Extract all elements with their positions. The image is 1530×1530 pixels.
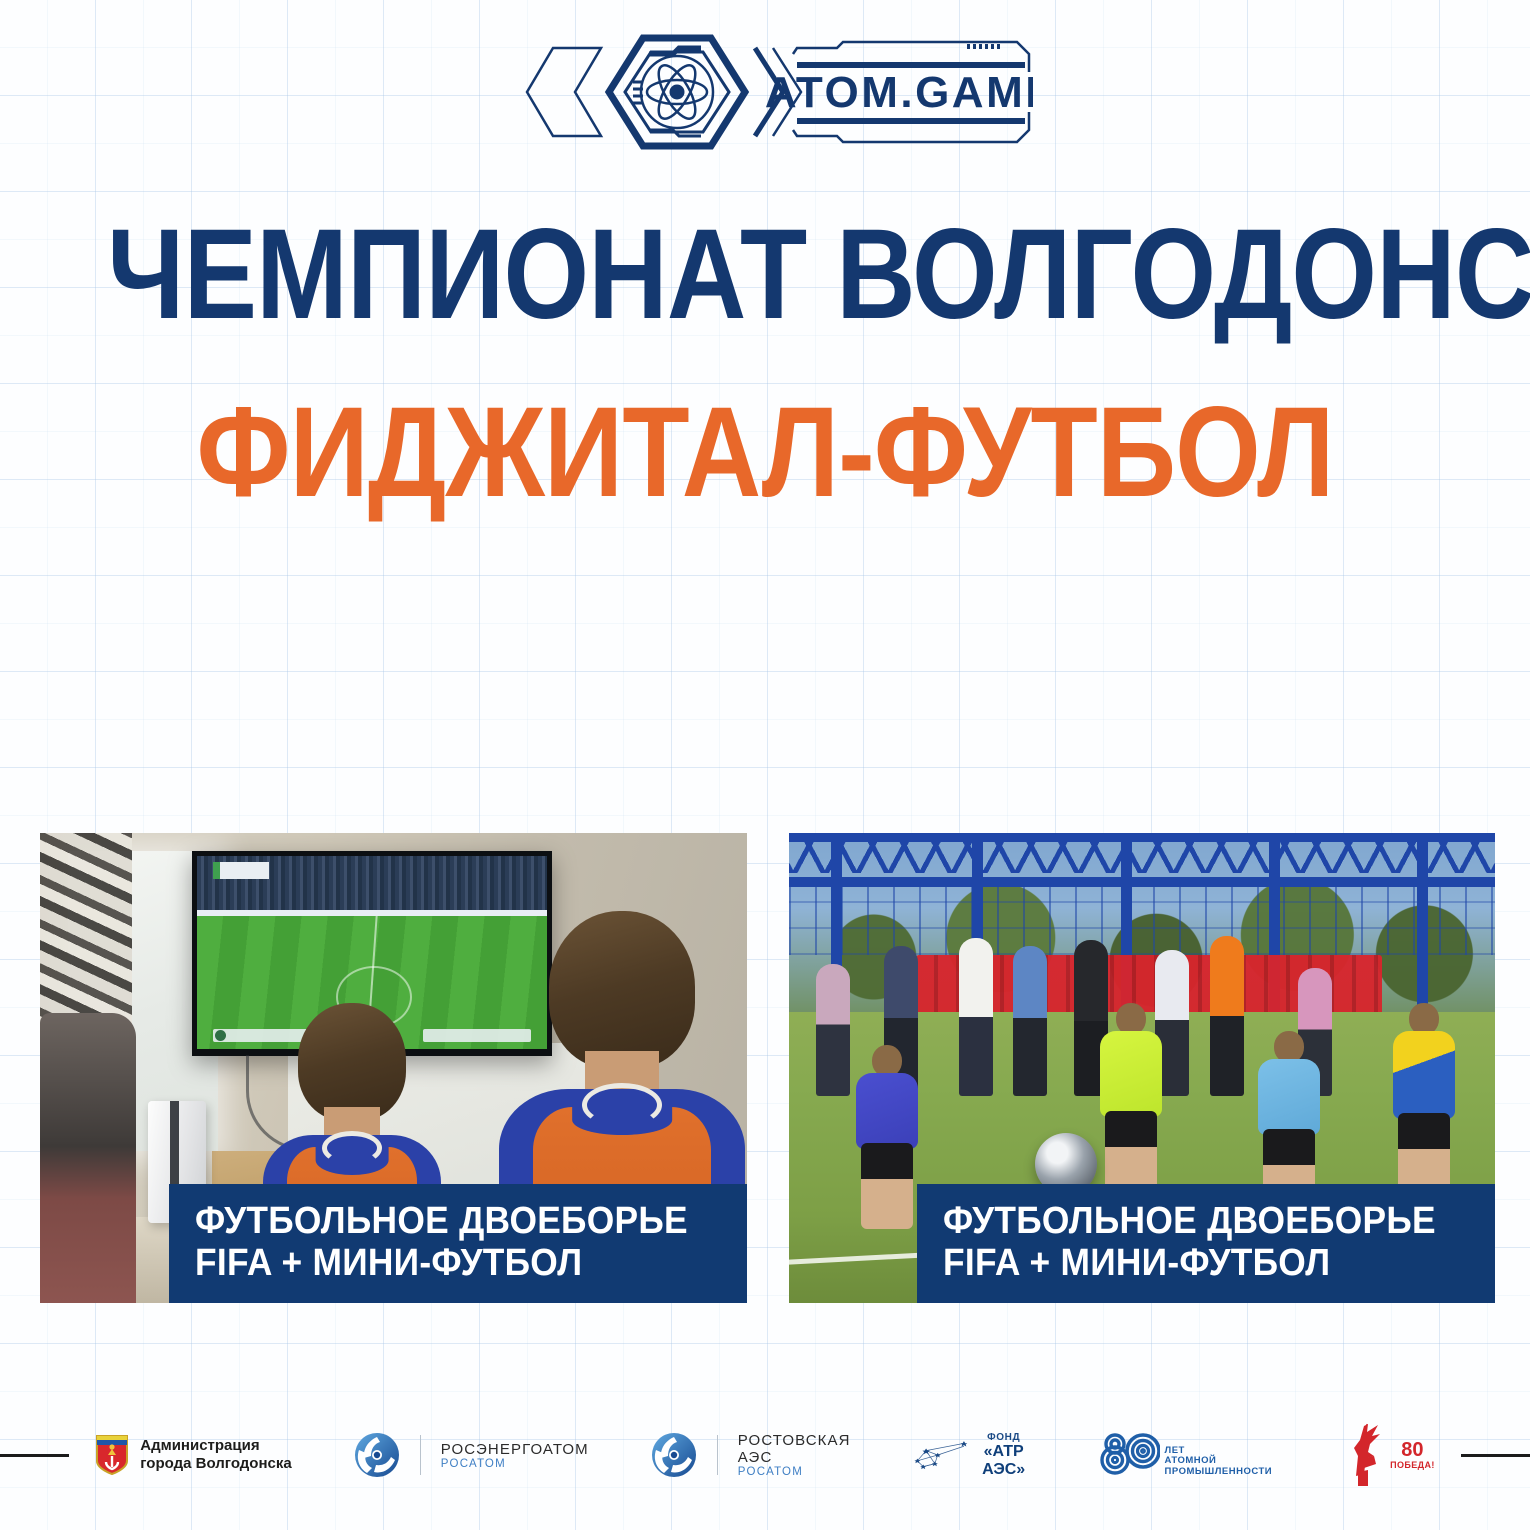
sponsor-rosenergoatom-line1: РОСЭНЕРГОАТОМ (441, 1441, 589, 1458)
caption-line-1: ФУТБОЛЬНОЕ ДВОЕБОРЬЕ (195, 1200, 688, 1243)
sponsor-victory-number: 80 (1390, 1440, 1435, 1460)
brand-logo: ATOM.GAME (0, 32, 1530, 152)
sponsor-rostov-npp-line1: РОСТОВСКАЯ (738, 1432, 851, 1449)
sponsor-atr-aes-fund: ФОНД «АТР АЭС» (913, 1432, 1036, 1479)
logo-wordmark: ATOM.GAME (765, 68, 1033, 117)
sponsor-80-years-atomic: ЛЕТ АТОМНОЙ ПРОМЫШЛЕННОСТИ (1098, 1432, 1273, 1478)
footer-rule-left (0, 1454, 69, 1457)
sponsor-victory-80: 80 ПОБЕДА! (1334, 1422, 1435, 1488)
page-title: ЧЕМПИОНАТ ВОЛГОДОНСКА ФИДЖИТАЛ-ФУТБОЛ (0, 216, 1530, 512)
caption-line-1: ФУТБОЛЬНОЕ ДВОЕБОРЬЕ (943, 1200, 1436, 1243)
caption-line-2: FIFA + МИНИ-ФУТБОЛ (943, 1242, 1436, 1285)
title-line-phygital-football: ФИДЖИТАЛ-ФУТБОЛ (107, 394, 1423, 512)
sponsor-atr-line2: «АТР АЭС» (972, 1443, 1036, 1479)
rosatom-swirl-icon (354, 1432, 400, 1478)
photo-minifootball: ФУТБОЛЬНОЕ ДВОЕБОРЬЕ FIFA + МИНИ-ФУТБОЛ (789, 833, 1496, 1303)
poster-canvas: ATOM.GAME ЧЕМПИОНАТ ВОЛГОДОНСКА ФИДЖИТАЛ… (0, 0, 1530, 1530)
sponsor-admin-line2: города Волгодонска (140, 1455, 291, 1473)
atom-game-logo-icon: ATOM.GAME (497, 32, 1033, 152)
sponsor-rostov-npp-line2: АЭС (738, 1449, 851, 1466)
photo-fifa-caption: ФУТБОЛЬНОЕ ДВОЕБОРЬЕ FIFA + МИНИ-ФУТБОЛ (169, 1184, 747, 1303)
coat-of-arms-icon (95, 1434, 129, 1476)
caption-line-2: FIFA + МИНИ-ФУТБОЛ (195, 1242, 688, 1285)
sponsor-admin-line1: Администрация (140, 1437, 291, 1455)
sponsor-victory-label: ПОБЕДА! (1390, 1460, 1435, 1470)
constellation-network-icon (913, 1433, 968, 1477)
sponsor-admin-volgodonsk: Администрация города Волгодонска (95, 1434, 291, 1476)
sponsor-atr-line1: ФОНД (972, 1432, 1036, 1443)
sponsor-rostov-npp: РОСТОВСКАЯ АЭС РОСАТОМ (651, 1432, 851, 1478)
sponsor-rosenergoatom-line2: РОСАТОМ (441, 1458, 589, 1470)
rosatom-swirl-icon (651, 1432, 697, 1478)
sponsor-rosenergoatom: РОСЭНЕРГОАТОМ РОСАТОМ (354, 1432, 589, 1478)
photo-minifootball-caption: ФУТБОЛЬНОЕ ДВОЕБОРЬЕ FIFA + МИНИ-ФУТБОЛ (917, 1184, 1495, 1303)
photo-gallery: ФУТБОЛЬНОЕ ДВОЕБОРЬЕ FIFA + МИНИ-ФУТБОЛ (40, 833, 1495, 1303)
motherland-calls-icon (1334, 1422, 1388, 1488)
sponsor-strip: Администрация города Волгодонска (0, 1380, 1530, 1530)
footer-rule-right (1461, 1454, 1530, 1457)
sponsor-80y-line3: ПРОМЫШЛЕННОСТИ (1165, 1467, 1273, 1478)
title-line-championship: ЧЕМПИОНАТ ВОЛГОДОНСКА (107, 216, 1423, 334)
sponsor-rostov-npp-line3: РОСАТОМ (738, 1466, 851, 1478)
concentric-80-icon (1098, 1432, 1160, 1478)
photo-fifa: ФУТБОЛЬНОЕ ДВОЕБОРЬЕ FIFA + МИНИ-ФУТБОЛ (40, 833, 747, 1303)
